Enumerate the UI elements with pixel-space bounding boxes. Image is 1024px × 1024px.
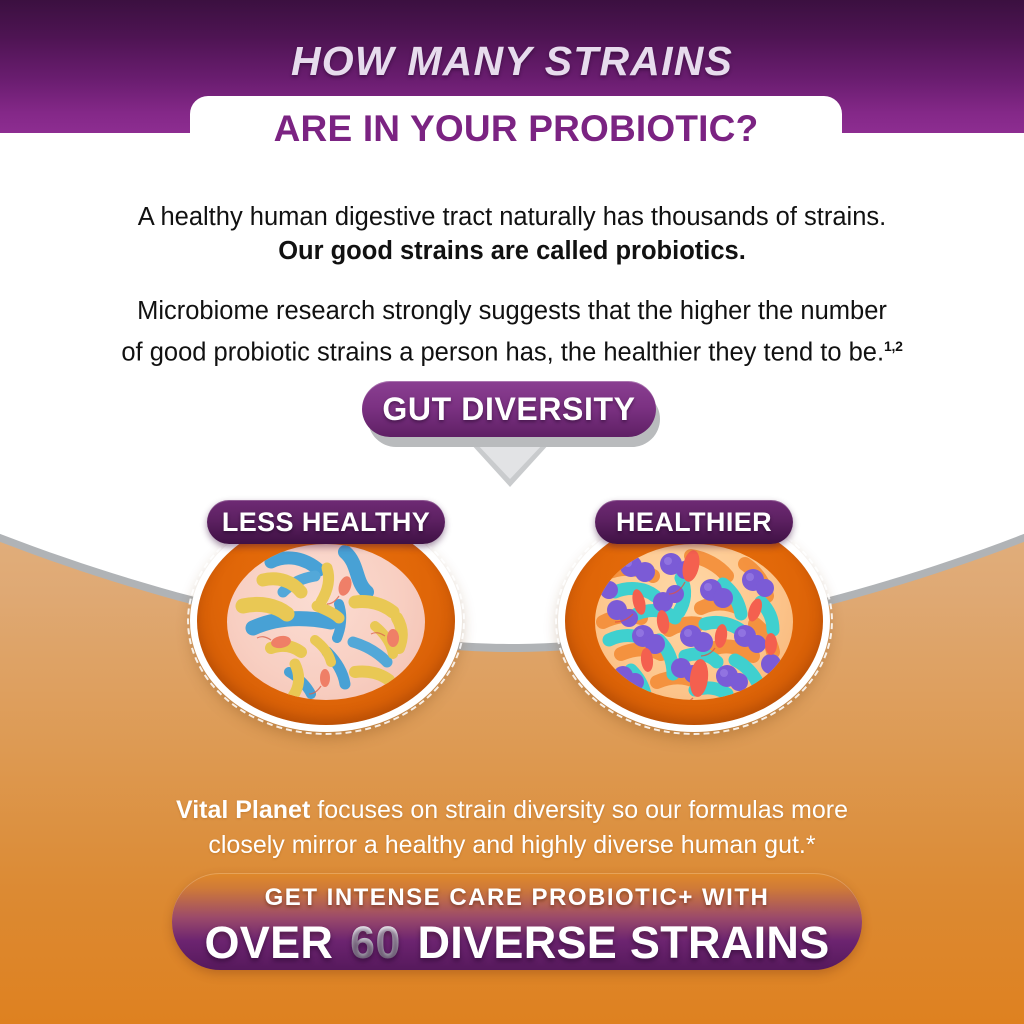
brand-statement-line-1: Vital Planet focuses on strain diversity…	[0, 793, 1024, 828]
badge-less-healthy-label: LESS HEALTHY	[222, 507, 430, 538]
brand-statement-rest: focuses on strain diversity so our formu…	[310, 796, 848, 824]
intro-line-1: A healthy human digestive tract naturall…	[0, 200, 1024, 234]
badge-healthier: HEALTHIER	[595, 500, 793, 544]
header-kicker: HOW MANY STRAINS	[0, 38, 1024, 85]
microbe-illustration-sparse	[227, 544, 425, 700]
brand-name: Vital Planet	[176, 796, 310, 824]
gut-diversity-label: GUT DIVERSITY	[382, 391, 635, 428]
intro-line-2: Our good strains are called probiotics.	[0, 234, 1024, 268]
dish-culture-less-healthy	[227, 544, 425, 700]
brand-statement: Vital Planet focuses on strain diversity…	[0, 793, 1024, 863]
brand-statement-line-2: closely mirror a healthy and highly dive…	[0, 828, 1024, 863]
badge-less-healthy: LESS HEALTHY	[207, 500, 445, 544]
gut-diversity-badge-group: GUT DIVERSITY	[362, 381, 662, 491]
research-line-1: Microbiome research strongly suggests th…	[0, 294, 1024, 329]
intro-paragraph: A healthy human digestive tract naturall…	[0, 200, 1024, 268]
microbe-illustration-dense	[595, 544, 793, 700]
petri-dish-healthier: HEALTHIER	[558, 522, 830, 730]
infographic-canvas: HOW MANY STRAINS ARE IN YOUR PROBIOTIC? …	[0, 0, 1024, 1024]
research-line-2-wrap: of good probiotic strains a person has, …	[0, 329, 1024, 371]
cta-subtitle: GET INTENSE CARE PROBIOTIC+ WITH	[172, 884, 862, 912]
cta-headline: OVER 60 DIVERSE STRAINS	[172, 917, 862, 969]
footnote-marker: 1,2	[884, 338, 903, 354]
badge-healthier-label: HEALTHIER	[616, 507, 772, 538]
page-title: ARE IN YOUR PROBIOTIC?	[190, 108, 842, 150]
cta-suffix: DIVERSE STRAINS	[417, 917, 829, 968]
cta-strain-count: 60	[346, 917, 405, 968]
cta-banner[interactable]: GET INTENSE CARE PROBIOTIC+ WITH OVER 60…	[172, 873, 862, 970]
petri-dish-less-healthy: LESS HEALTHY	[190, 522, 462, 730]
dish-culture-healthier	[595, 544, 793, 700]
gut-diversity-badge: GUT DIVERSITY	[362, 381, 656, 437]
research-paragraph: Microbiome research strongly suggests th…	[0, 294, 1024, 371]
research-line-2: of good probiotic strains a person has, …	[121, 339, 884, 367]
cta-prefix: OVER	[204, 917, 333, 968]
pointer-arrow-highlight-icon	[476, 443, 544, 479]
